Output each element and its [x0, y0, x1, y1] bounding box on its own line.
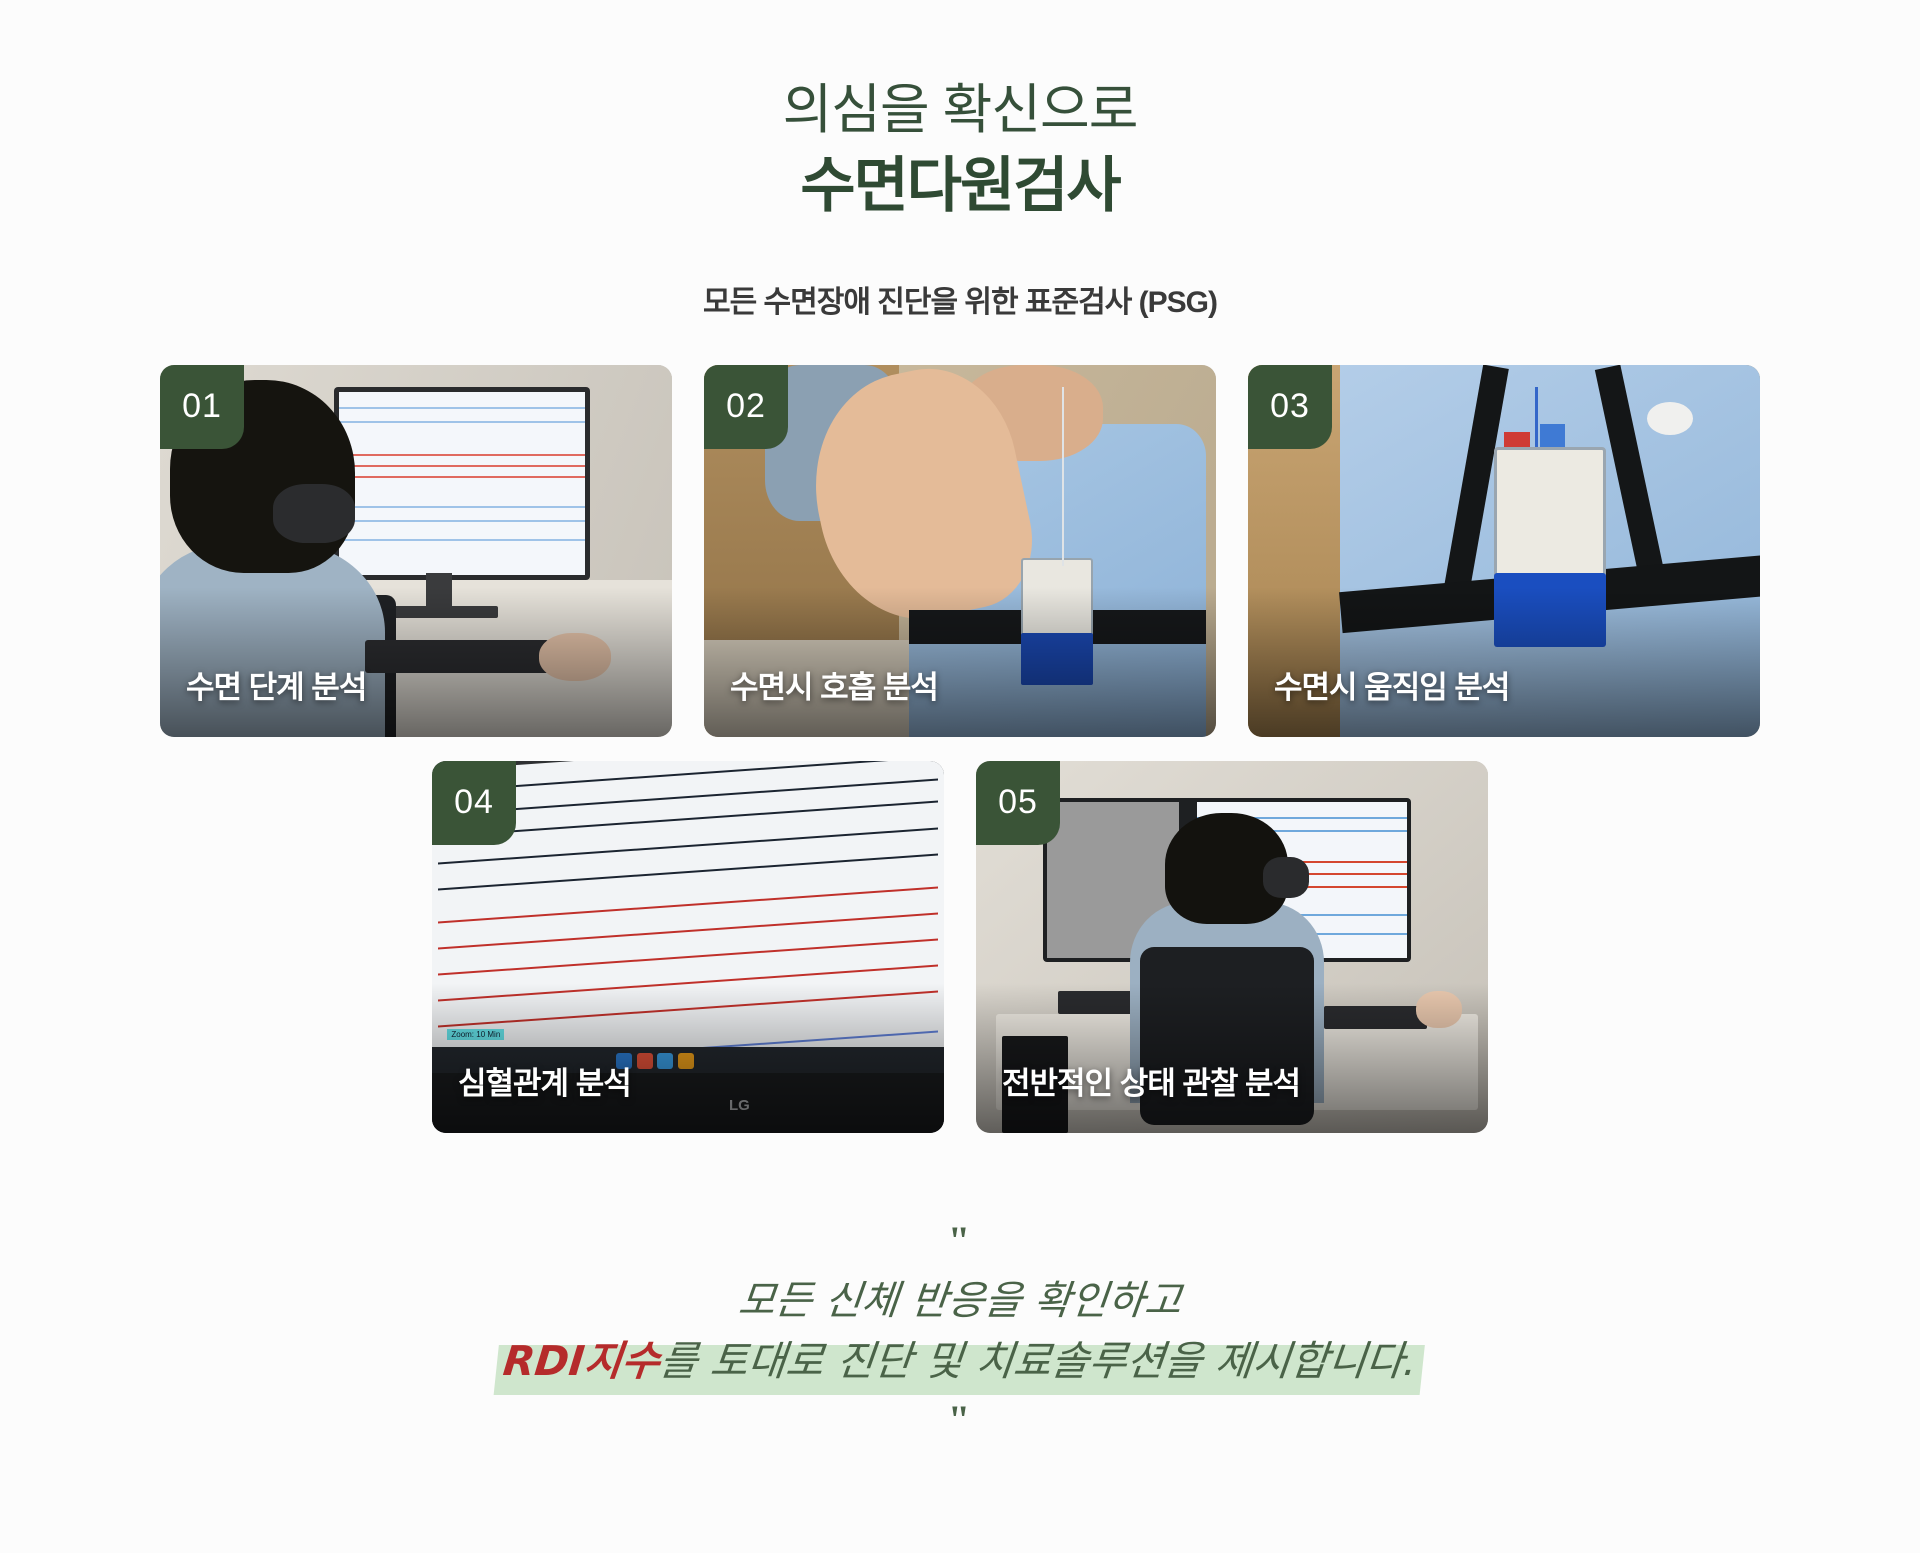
card-number-badge: 02	[704, 365, 788, 449]
feature-card-03[interactable]: 03 수면시 움직임 분석	[1248, 365, 1760, 737]
quote-line-2-rest: 를 토대로 진단 및 치료솔루션을 제시합니다.	[657, 1337, 1419, 1385]
sleep-study-promo-page: 의심을 확신으로 수면다원검사 모든 수면장애 진단을 위한 표준검사 (PSG…	[0, 0, 1920, 1553]
card-row-top: 01 수면 단계 분석 02 수면시 호흡 분석	[160, 365, 1760, 737]
card-caption: 수면 단계 분석	[186, 662, 366, 707]
feature-card-grid: 01 수면 단계 분석 02 수면시 호흡 분석	[140, 365, 1780, 1133]
feature-card-04[interactable]: Zoom: 10 Min LG 04 심혈관계 분석	[432, 761, 944, 1133]
feature-card-05[interactable]: 05 전반적인 상태 관찰 분석	[976, 761, 1488, 1133]
card-caption: 심혈관계 분석	[458, 1058, 631, 1103]
card-number-badge: 05	[976, 761, 1060, 845]
quote-open-mark: "	[0, 1229, 1920, 1253]
page-subtitle: 모든 수면장애 진단을 위한 표준검사 (PSG)	[0, 277, 1920, 321]
card-number-badge: 04	[432, 761, 516, 845]
closing-quote: " 모든 신체 반응을 확인하고 RDI지수를 토대로 진단 및 치료솔루션을 …	[0, 1229, 1920, 1433]
quote-line-2: RDI지수를 토대로 진단 및 치료솔루션을 제시합니다.	[0, 1331, 1920, 1395]
card-number-badge: 01	[160, 365, 244, 449]
feature-card-02[interactable]: 02 수면시 호흡 분석	[704, 365, 1216, 737]
card-caption: 수면시 움직임 분석	[1274, 662, 1509, 707]
page-title: 수면다원검사	[0, 148, 1920, 225]
quote-line-1: 모든 신체 반응을 확인하고	[0, 1271, 1920, 1331]
feature-card-01[interactable]: 01 수면 단계 분석	[160, 365, 672, 737]
card-caption: 수면시 호흡 분석	[730, 662, 938, 707]
quote-rdi-emphasis: RDI지수	[501, 1337, 662, 1385]
quote-close-mark: "	[0, 1408, 1920, 1432]
page-title-eyebrow: 의심을 확신으로	[0, 78, 1920, 144]
card-number-badge: 03	[1248, 365, 1332, 449]
page-header: 의심을 확신으로 수면다원검사 모든 수면장애 진단을 위한 표준검사 (PSG…	[0, 0, 1920, 321]
card-caption: 전반적인 상태 관찰 분석	[1002, 1058, 1300, 1103]
card-row-bottom: Zoom: 10 Min LG 04 심혈관계 분석	[432, 761, 1488, 1133]
